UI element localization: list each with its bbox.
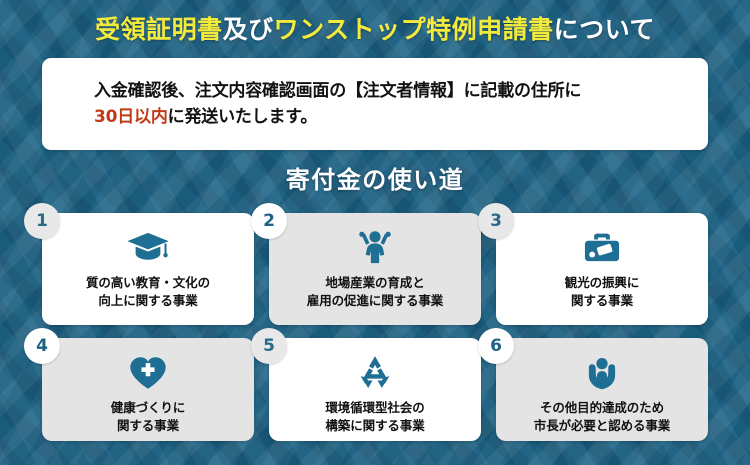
usage-card-label-3: 観光の振興に関する事業 — [565, 274, 639, 310]
usage-card-5[interactable]: 5環境循環型社会の構築に関する事業 — [269, 338, 481, 441]
usage-card-label-5: 環境循環型社会の構築に関する事業 — [325, 399, 424, 435]
page-title-part-1: 受領証明書 — [95, 10, 223, 46]
page-title-part-3: ワンストップ特例申請書 — [274, 10, 554, 46]
recycle-icon — [355, 350, 395, 396]
usage-card-3[interactable]: 3観光の振興に関する事業 — [496, 213, 708, 325]
usage-card-label-line-1: その他目的達成のため — [534, 399, 670, 417]
usage-card-badge-1: 1 — [24, 203, 60, 239]
usage-card-badge-2: 2 — [251, 203, 287, 239]
usage-card-label-line-1: 地場産業の育成と — [307, 274, 443, 292]
usage-card-label-line-2: 関する事業 — [565, 292, 639, 310]
usage-card-label-2: 地場産業の育成と雇用の促進に関する事業 — [307, 274, 443, 310]
suitcase-icon — [581, 225, 623, 271]
usage-card-label-line-2: 構築に関する事業 — [325, 417, 424, 435]
page-title: 受領証明書及びワンストップ特例申請書について — [0, 0, 750, 56]
notice-line-2-rest: に発送いたします。 — [168, 107, 318, 127]
usage-card-badge-4: 4 — [24, 328, 60, 364]
usage-card-badge-5: 5 — [251, 328, 287, 364]
page-title-part-2: 及び — [223, 10, 274, 46]
notice-deadline-highlight: 30日以内 — [94, 107, 168, 127]
donation-usage-grid: 1質の高い教育・文化の向上に関する事業2地場産業の育成と雇用の促進に関する事業3… — [42, 213, 708, 441]
usage-card-badge-3: 3 — [478, 203, 514, 239]
usage-card-1[interactable]: 1質の高い教育・文化の向上に関する事業 — [42, 213, 254, 325]
usage-card-label-line-1: 環境循環型社会の — [325, 399, 424, 417]
usage-card-label-6: その他目的達成のため市長が必要と認める事業 — [534, 399, 670, 435]
page-title-part-4: について — [554, 10, 655, 46]
usage-card-label-line-2: 向上に関する事業 — [86, 292, 210, 310]
notice-card: 入金確認後、注文内容確認画面の【注文者情報】に記載の住所に 30日以内に発送いた… — [42, 58, 708, 150]
usage-card-label-line-2: 雇用の促進に関する事業 — [307, 292, 443, 310]
usage-card-label-line-2: 市長が必要と認める事業 — [534, 417, 670, 435]
usage-card-2[interactable]: 2地場産業の育成と雇用の促進に関する事業 — [269, 213, 481, 325]
section-heading: 寄付金の使い道 — [0, 160, 750, 195]
usage-card-4[interactable]: 4健康づくりに関する事業 — [42, 338, 254, 441]
usage-card-label-4: 健康づくりに関する事業 — [111, 399, 185, 435]
graduation-cap-icon — [126, 225, 170, 271]
cheering-person-icon — [354, 225, 396, 271]
usage-card-label-line-2: 関する事業 — [111, 417, 185, 435]
notice-line-2: 30日以内に発送いたします。 — [94, 104, 708, 130]
usage-card-label-line-1: 質の高い教育・文化の — [86, 274, 210, 292]
notice-line-1: 入金確認後、注文内容確認画面の【注文者情報】に記載の住所に — [94, 78, 708, 104]
person-in-hands-icon — [582, 350, 622, 396]
usage-card-6[interactable]: 6その他目的達成のため市長が必要と認める事業 — [496, 338, 708, 441]
usage-card-label-1: 質の高い教育・文化の向上に関する事業 — [86, 274, 210, 310]
usage-card-label-line-1: 観光の振興に — [565, 274, 639, 292]
usage-card-label-line-1: 健康づくりに — [111, 399, 185, 417]
page-background: 受領証明書及びワンストップ特例申請書について 入金確認後、注文内容確認画面の【注… — [0, 0, 750, 465]
heart-plus-icon — [127, 350, 169, 396]
usage-card-badge-6: 6 — [478, 328, 514, 364]
